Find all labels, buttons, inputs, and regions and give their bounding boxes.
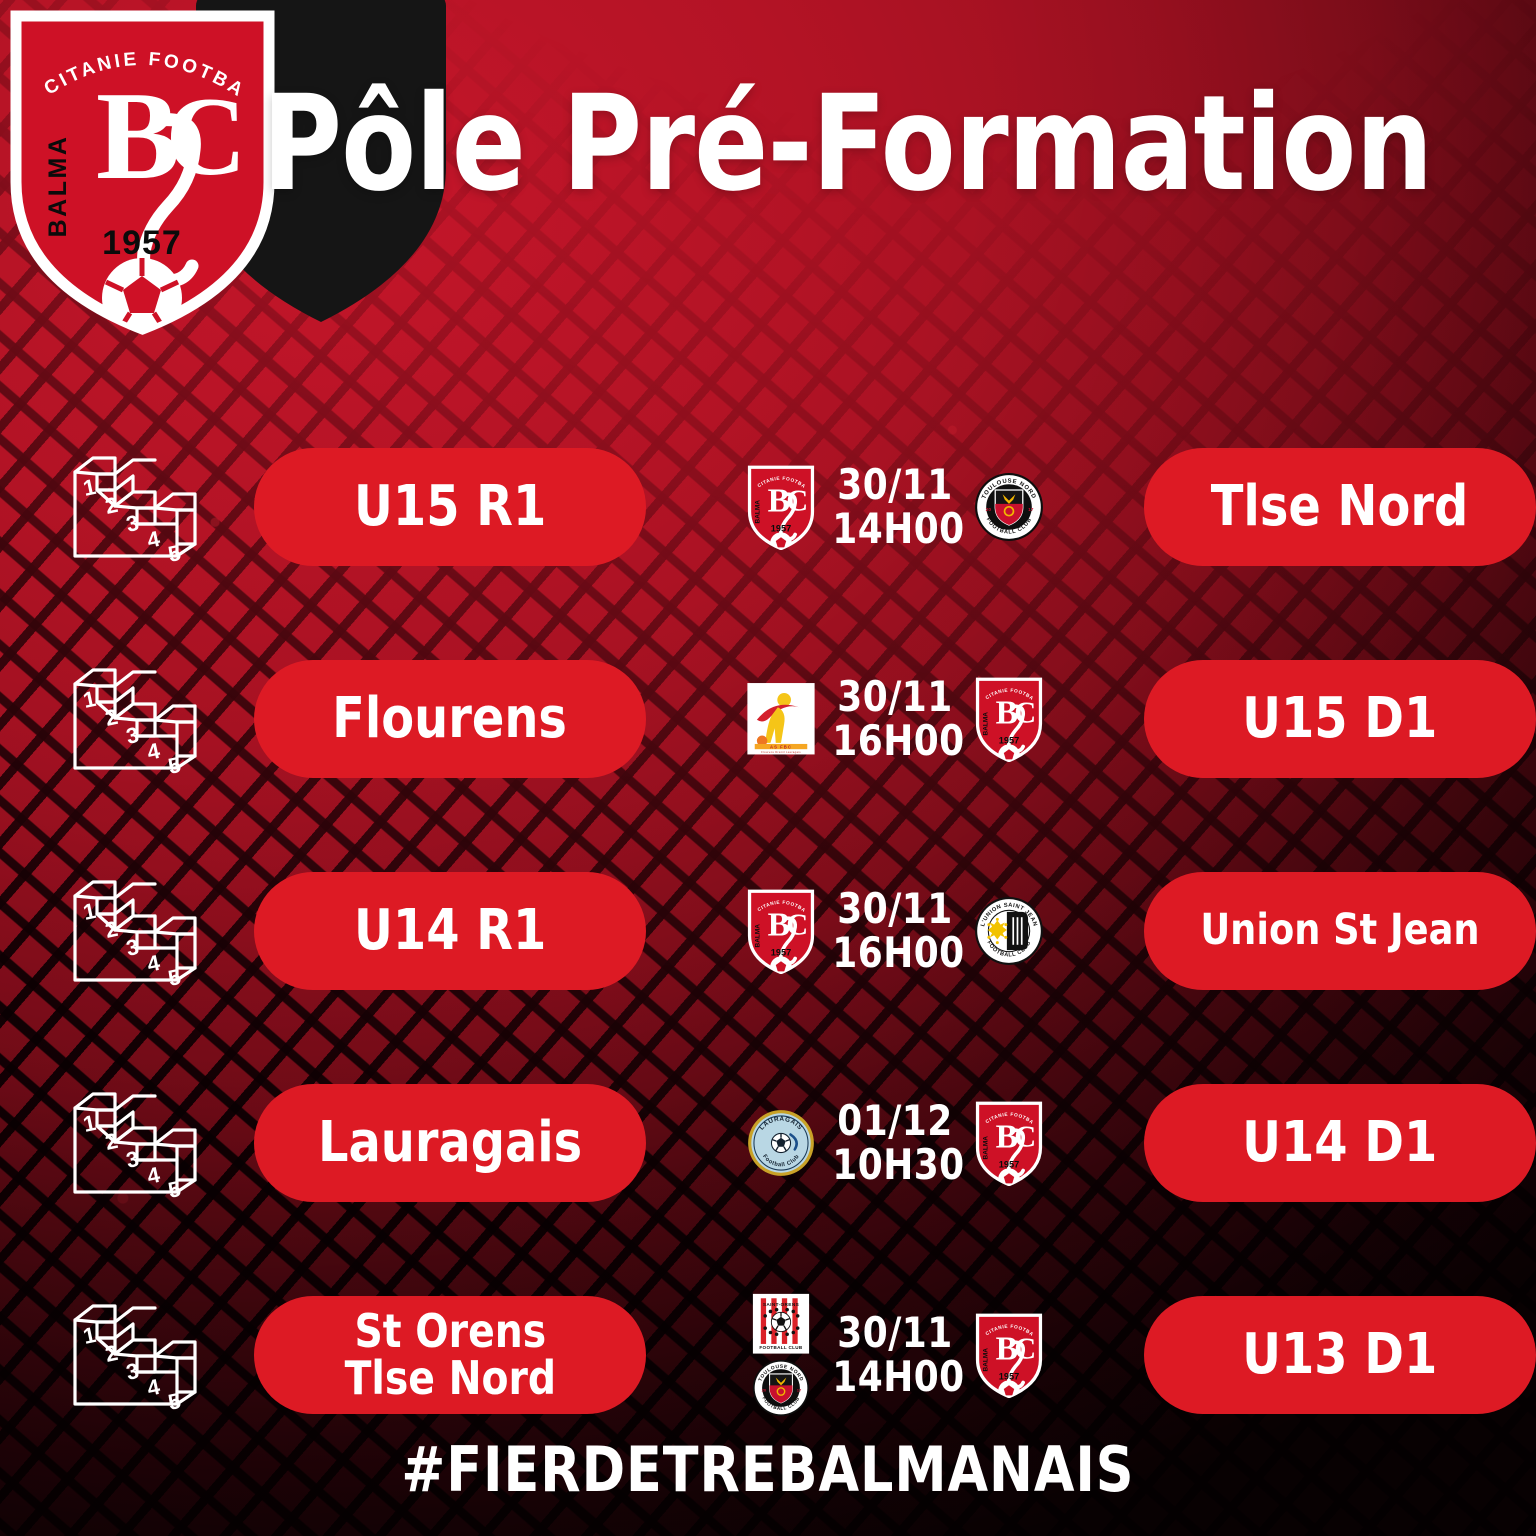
poster-footer: #FIERDETREBALMANAIS [0, 1433, 1536, 1506]
svg-text:SAINT-ORENS: SAINT-ORENS [763, 1302, 799, 1308]
svg-text:C: C [166, 75, 247, 199]
svg-text:C: C [1014, 695, 1036, 729]
svg-text:20: 20 [762, 1387, 767, 1392]
steps-icon: 1 2 3 4 5 [62, 1080, 212, 1206]
steps-icon-svg: 1 2 3 4 5 [67, 444, 207, 570]
away-team-pill[interactable]: Union St Jean [1144, 872, 1536, 990]
svg-text:C: C [786, 483, 808, 517]
svg-text:BALMA: BALMA [982, 1347, 989, 1371]
svg-text:1957: 1957 [102, 224, 182, 262]
badge-lauragais: LAURAGAIS Football Club [746, 1108, 816, 1178]
steps-icon: 1 2 3 4 5 [62, 656, 212, 782]
away-team-label: U15 D1 [1242, 690, 1437, 747]
badge-balma-sc: OCCITANIE FOOTBALL BALMA B C 1957 [974, 676, 1044, 763]
home-team-label: U15 R1 [354, 478, 546, 535]
steps-icon: 1 2 3 4 5 [62, 444, 212, 570]
fixture-row: 1 2 3 4 5 U15 R1 OCCITANIE FOOTBALL BALM… [0, 432, 1536, 582]
match-datetime: 30/11 14H00 [832, 463, 957, 550]
home-team-pill[interactable]: Lauragais [254, 1084, 646, 1202]
steps-icon-svg: 1 2 3 4 5 [67, 656, 207, 782]
svg-text:1957: 1957 [771, 947, 792, 957]
steps-icon: 1 2 3 4 5 [62, 868, 212, 994]
away-team-badges: OCCITANIE FOOTBALL BALMA B C 1957 [971, 676, 1047, 763]
away-team-label: U14 D1 [1242, 1114, 1437, 1171]
svg-text:1957: 1957 [999, 1159, 1020, 1169]
svg-text:C: C [1014, 1331, 1036, 1365]
away-team-badges: OCCITANIE FOOTBALL BALMA B C 1957 [971, 1100, 1047, 1187]
svg-text:4: 4 [145, 738, 163, 765]
badge-balma-sc: OCCITANIE FOOTBALL BALMA B C 1957 [974, 1100, 1044, 1187]
poster-header: OCCITANIE FOOTBALL BALMA B C 1957 Pôle P… [0, 0, 1536, 350]
match-center: AS FBC Flourens Drémil Lauragais 30/11 1… [646, 675, 1144, 762]
steps-icon-svg: 1 2 3 4 5 [67, 1080, 207, 1206]
fixture-poster: OCCITANIE FOOTBALL BALMA B C 1957 Pôle P… [0, 0, 1536, 1536]
home-team-badges: AS FBC Flourens Drémil Lauragais [743, 682, 819, 756]
away-team-pill[interactable]: U15 D1 [1144, 660, 1536, 778]
svg-text:BALMA: BALMA [982, 1135, 989, 1159]
club-crest: OCCITANIE FOOTBALL BALMA B C 1957 [10, 10, 275, 335]
home-team-badges: OCCITANIE FOOTBALL BALMA B C 1957 [743, 888, 819, 975]
away-team-label: U13 D1 [1242, 1326, 1437, 1383]
home-team-label: St Orens Tlse Nord [344, 1308, 556, 1402]
badge-flourens: AS FBC Flourens Drémil Lauragais [746, 682, 816, 756]
match-center: LAURAGAIS Football Club 01/12 10H30 OCCI… [646, 1099, 1144, 1186]
svg-text:BALMA: BALMA [44, 135, 72, 238]
svg-text:Flourens Drémil Lauragais: Flourens Drémil Lauragais [761, 750, 801, 754]
match-center: SAINT-ORENS FOOTBALL CLUB TOULOUSE NORD [646, 1293, 1144, 1416]
svg-text:2: 2 [103, 704, 120, 731]
svg-text:1957: 1957 [999, 1371, 1020, 1381]
badge-union-st-jean: L'UNION SAINT JEAN FOOTBALL CLUB [974, 896, 1044, 966]
svg-text:BALMA: BALMA [754, 499, 761, 523]
home-team-pill[interactable]: U15 R1 [254, 448, 646, 566]
steps-icon-svg: 1 2 3 4 5 [67, 868, 207, 994]
home-team-badges: OCCITANIE FOOTBALL BALMA B C 1957 [743, 464, 819, 551]
fixture-row: 1 2 3 4 5 Flourens AS FBC Flourens Drémi… [0, 644, 1536, 794]
away-team-pill[interactable]: U13 D1 [1144, 1296, 1536, 1414]
badge-balma-sc: OCCITANIE FOOTBALL BALMA B C 1957 [746, 888, 816, 975]
svg-text:C: C [786, 907, 808, 941]
home-team-label: U14 R1 [354, 902, 546, 959]
svg-text:FOOTBALL CLUB: FOOTBALL CLUB [759, 1345, 802, 1350]
fixture-row: 1 2 3 4 5 Lauragais LAURAGAIS Football C… [0, 1068, 1536, 1218]
hashtag: #FIERDETREBALMANAIS [401, 1433, 1134, 1506]
home-team-label: Lauragais [318, 1114, 582, 1171]
svg-text:BALMA: BALMA [982, 711, 989, 735]
match-datetime: 01/12 10H30 [832, 1099, 957, 1186]
svg-text:4: 4 [145, 950, 163, 977]
home-team-pill[interactable]: St Orens Tlse Nord [254, 1296, 646, 1414]
svg-text:2: 2 [103, 1128, 120, 1155]
svg-text:2: 2 [103, 916, 120, 943]
away-team-badges: TOULOUSE NORD FOOTBALL CLUB 20 17 [971, 472, 1047, 542]
away-team-label: Union St Jean [1200, 909, 1479, 953]
away-team-pill[interactable]: Tlse Nord [1144, 448, 1536, 566]
match-datetime: 30/11 16H00 [832, 887, 957, 974]
svg-text:4: 4 [145, 526, 163, 553]
badge-balma-sc: OCCITANIE FOOTBALL BALMA B C 1957 [974, 1312, 1044, 1399]
fixtures-list: 1 2 3 4 5 U15 R1 OCCITANIE FOOTBALL BALM… [0, 432, 1536, 1430]
svg-text:1957: 1957 [999, 735, 1020, 745]
svg-text:2: 2 [103, 1340, 120, 1367]
badge-toulouse-nord: TOULOUSE NORD FOOTBALL CLUB 20 17 [974, 472, 1044, 542]
fixture-row: 1 2 3 4 5 St Orens Tlse Nord SAINT-ORENS [0, 1280, 1536, 1430]
svg-text:2: 2 [103, 492, 120, 519]
match-datetime: 30/11 14H00 [832, 1311, 957, 1398]
svg-text:4: 4 [145, 1374, 163, 1401]
match-center: OCCITANIE FOOTBALL BALMA B C 1957 30/11 … [646, 463, 1144, 550]
away-team-pill[interactable]: U14 D1 [1144, 1084, 1536, 1202]
fixture-row: 1 2 3 4 5 U14 R1 OCCITANIE FOOTBALL BALM… [0, 856, 1536, 1006]
home-team-badges: SAINT-ORENS FOOTBALL CLUB TOULOUSE NORD [743, 1293, 819, 1416]
home-team-pill[interactable]: U14 R1 [254, 872, 646, 990]
match-datetime: 30/11 16H00 [832, 675, 957, 762]
svg-text:C: C [1014, 1119, 1036, 1153]
badge-balma-sc: OCCITANIE FOOTBALL BALMA B C 1957 [746, 464, 816, 551]
svg-text:17: 17 [797, 1387, 802, 1392]
svg-text:17: 17 [1028, 507, 1034, 513]
svg-text:1957: 1957 [771, 523, 792, 533]
page-title: Pôle Pré-Formation [262, 78, 1432, 210]
steps-icon-svg: 1 2 3 4 5 [67, 1292, 207, 1418]
svg-text:BALMA: BALMA [754, 923, 761, 947]
match-center: OCCITANIE FOOTBALL BALMA B C 1957 30/11 … [646, 887, 1144, 974]
home-team-label: Flourens [333, 690, 568, 747]
steps-icon: 1 2 3 4 5 [62, 1292, 212, 1418]
away-team-badges: OCCITANIE FOOTBALL BALMA B C 1957 [971, 1312, 1047, 1399]
away-team-badges: L'UNION SAINT JEAN FOOTBALL CLUB [971, 896, 1047, 966]
svg-text:20: 20 [986, 507, 992, 513]
badge-st-orens: SAINT-ORENS FOOTBALL CLUB [752, 1293, 810, 1354]
svg-text:4: 4 [145, 1162, 163, 1189]
svg-text:AS FBC: AS FBC [770, 745, 792, 750]
home-team-pill[interactable]: Flourens [254, 660, 646, 778]
away-team-label: Tlse Nord [1211, 478, 1468, 535]
home-team-badges: LAURAGAIS Football Club [743, 1108, 819, 1178]
badge-toulouse-nord: TOULOUSE NORD FOOTBALL CLUB 20 17 [752, 1359, 810, 1417]
